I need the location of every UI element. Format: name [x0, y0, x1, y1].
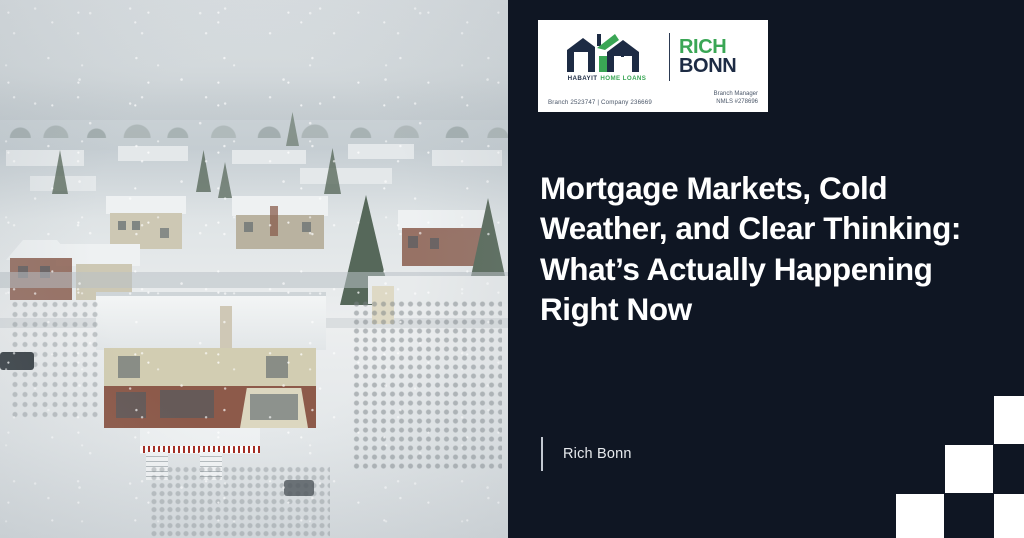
byline-author-name: Rich Bonn [563, 446, 632, 462]
logo-brand-block: HABAYIT HOME LOANS [548, 32, 666, 82]
photo-window [118, 356, 140, 378]
byline-accent-bar [541, 437, 543, 471]
checker-cell-dark [945, 396, 993, 444]
photo-window [302, 222, 311, 232]
loan-officer-credentials: Branch Manager NMLS #278696 [714, 90, 758, 106]
photo-foreground-house-roof [96, 292, 326, 350]
license-numbers: Branch 2523747 | Company 236669 [548, 99, 652, 106]
logo-wordmark-primary: HABAYIT [568, 76, 598, 82]
content-panel: HABAYIT HOME LOANS RICH BONN Branch 2523… [508, 0, 1024, 538]
photo-rooftop [300, 168, 392, 184]
photo-window [160, 390, 214, 418]
photo-window [160, 228, 169, 238]
checker-cell-dark [994, 445, 1024, 493]
loan-officer-title: Branch Manager [714, 90, 758, 98]
photo-window [408, 236, 418, 248]
photo-bare-tree [150, 466, 330, 538]
byline: Rich Bonn [541, 437, 632, 471]
loan-officer-name-block: RICH BONN [679, 38, 736, 76]
logo-wordmark: HABAYIT HOME LOANS [568, 76, 647, 82]
photo-house-roof [106, 196, 186, 214]
photo-foreground-house-chimney [220, 306, 232, 350]
photo-window [118, 221, 126, 230]
photo-house-wall [236, 215, 324, 249]
photo-rooftop [118, 146, 188, 161]
photo-rooftop [348, 144, 414, 159]
checker-cell-dark [896, 445, 944, 493]
photo-rooftop [432, 150, 502, 166]
checker-cell-dark [896, 396, 944, 444]
house-outline-logo-icon [561, 32, 653, 74]
photo-distant-treeline [0, 92, 508, 138]
checker-cell-light [945, 445, 993, 493]
photo-rooftop [6, 150, 84, 166]
logo-wordmark-secondary: HOME LOANS [600, 76, 646, 82]
checker-cell-light [994, 396, 1024, 444]
loan-officer-nmls: NMLS #278696 [714, 98, 758, 106]
logo-card-license-row: Branch 2523747 | Company 236669 Branch M… [548, 87, 758, 106]
photo-window [244, 222, 253, 232]
photo-window [250, 394, 298, 420]
photo-parked-car [284, 480, 314, 496]
photo-window [266, 356, 288, 378]
logo-divider [669, 33, 670, 81]
photo-rooftop [232, 150, 306, 164]
checker-cell-light [994, 494, 1024, 538]
photo-window [132, 221, 140, 230]
photo-chimney [270, 206, 278, 236]
photo-window [116, 392, 146, 418]
checker-cell-light [896, 494, 944, 538]
social-card-canvas: HABAYIT HOME LOANS RICH BONN Branch 2523… [0, 0, 1024, 538]
checkerboard-decoration [896, 396, 1024, 538]
brand-logo-card: HABAYIT HOME LOANS RICH BONN Branch 2523… [538, 20, 768, 112]
logo-card-top-row: HABAYIT HOME LOANS RICH BONN [548, 28, 758, 87]
article-headline: Mortgage Markets, Cold Weather, and Clea… [540, 168, 1010, 329]
photo-bare-tree [352, 300, 502, 470]
photo-window [430, 238, 439, 249]
photo-house-roof [232, 196, 328, 216]
loan-officer-last-name: BONN [679, 57, 736, 76]
hero-photo [0, 0, 508, 538]
checker-cell-dark [945, 494, 993, 538]
photo-parked-car [0, 352, 34, 370]
photo-foreground-house-roof-ridge [96, 292, 326, 296]
photo-house-roof [398, 210, 490, 230]
